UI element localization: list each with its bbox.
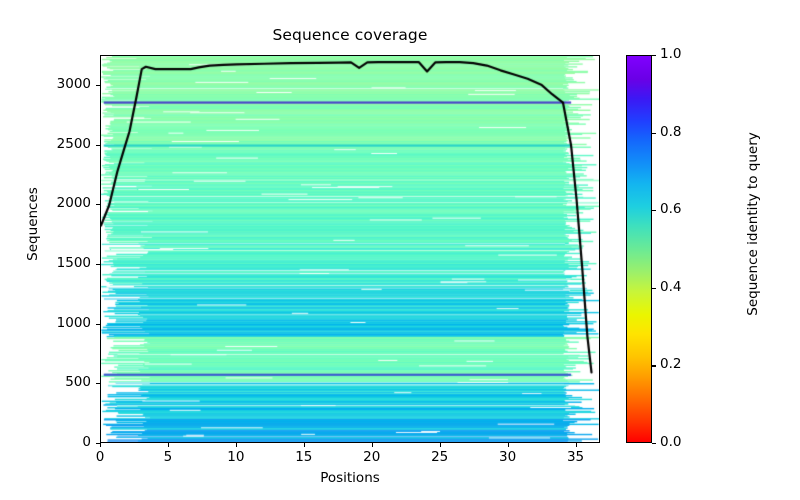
page-title: Sequence coverage xyxy=(100,26,600,44)
colorbar-tick xyxy=(652,365,656,366)
colorbar-tick-label: 0.2 xyxy=(660,356,720,372)
x-tick xyxy=(440,443,441,447)
x-tick xyxy=(304,443,305,447)
coverage-curve xyxy=(101,56,600,443)
x-tick xyxy=(372,443,373,447)
x-tick-label: 25 xyxy=(410,449,470,465)
colorbar-tick-label: 0.8 xyxy=(660,124,720,140)
x-tick xyxy=(236,443,237,447)
colorbar-tick-label: 0.4 xyxy=(660,279,720,295)
x-tick-label: 5 xyxy=(138,449,198,465)
y-tick-label: 3000 xyxy=(31,76,91,92)
x-tick xyxy=(576,443,577,447)
x-axis-label: Positions xyxy=(100,470,600,486)
x-tick xyxy=(100,443,101,447)
x-tick xyxy=(168,443,169,447)
y-tick xyxy=(96,324,100,325)
colorbar-tick-label: 1.0 xyxy=(660,46,720,62)
y-tick xyxy=(96,204,100,205)
colorbar-tick-label: 0.0 xyxy=(660,434,720,450)
colorbar-tick xyxy=(652,288,656,289)
x-tick-label: 10 xyxy=(206,449,266,465)
x-tick-label: 35 xyxy=(546,449,606,465)
colorbar-tick xyxy=(652,55,656,56)
x-tick-label: 15 xyxy=(274,449,334,465)
y-tick xyxy=(96,443,100,444)
y-tick xyxy=(96,264,100,265)
y-tick xyxy=(96,383,100,384)
x-tick-label: 30 xyxy=(478,449,538,465)
x-tick xyxy=(508,443,509,447)
colorbar-label: Sequence identity to query xyxy=(745,74,761,374)
y-tick-label: 0 xyxy=(31,434,91,450)
x-tick-label: 20 xyxy=(342,449,402,465)
y-tick xyxy=(96,145,100,146)
colorbar-tick-label: 0.6 xyxy=(660,201,720,217)
plot-area xyxy=(100,55,600,443)
y-tick-label: 500 xyxy=(31,374,91,390)
colorbar-tick xyxy=(652,133,656,134)
y-tick xyxy=(96,85,100,86)
colorbar-tick xyxy=(652,443,656,444)
x-tick-label: 0 xyxy=(70,449,130,465)
y-axis-label: Sequences xyxy=(25,124,41,324)
colorbar xyxy=(626,55,652,443)
figure-canvas: Sequence coverage 05101520253035 0500100… xyxy=(0,0,800,500)
colorbar-tick xyxy=(652,210,656,211)
